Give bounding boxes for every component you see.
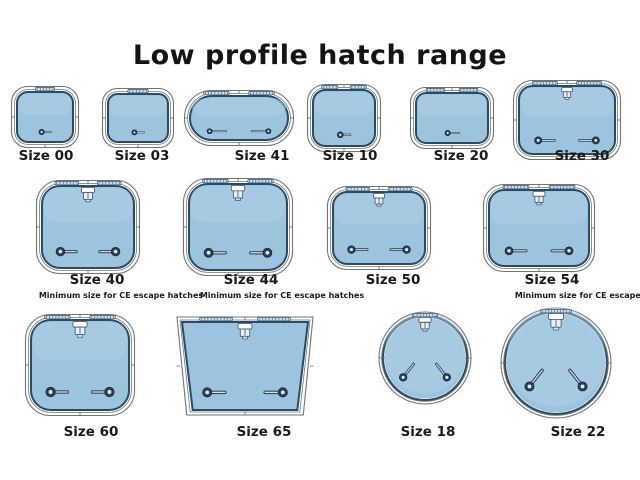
ce-escape-caption-size-44: Minimum size for CE escape hatches bbox=[138, 291, 426, 300]
hatch-label-size-20: Size 20 bbox=[416, 148, 506, 164]
ce-escape-caption-size-54: Minimum size for CE escape hatches bbox=[452, 291, 640, 300]
hatch-size-44 bbox=[180, 175, 296, 279]
hatch-label-size-30: Size 30 bbox=[525, 148, 639, 164]
hatch-size-03 bbox=[99, 85, 177, 151]
hatch-label-size-41: Size 41 bbox=[204, 148, 320, 164]
hatch-label-size-18: Size 18 bbox=[377, 424, 479, 440]
hatch-size-10 bbox=[304, 81, 384, 155]
hatch-size-65 bbox=[173, 313, 317, 419]
hatch-size-50 bbox=[324, 183, 434, 273]
hatch-size-20 bbox=[407, 84, 497, 152]
hatch-size-22 bbox=[496, 303, 616, 423]
hatch-size-41 bbox=[181, 87, 297, 149]
hatch-label-size-50: Size 50 bbox=[338, 272, 448, 288]
hatch-label-size-44: Size 44 bbox=[193, 272, 309, 288]
hatch-size-60 bbox=[22, 311, 138, 419]
page-title: Low profile hatch range bbox=[0, 40, 640, 71]
hatch-label-size-03: Size 03 bbox=[103, 148, 181, 164]
hatch-label-size-22: Size 22 bbox=[518, 424, 638, 440]
hatch-size-18 bbox=[374, 307, 476, 409]
hatch-size-00 bbox=[8, 83, 82, 151]
hatch-size-54 bbox=[480, 181, 598, 275]
hatch-label-size-10: Size 10 bbox=[310, 148, 390, 164]
hatch-label-size-54: Size 54 bbox=[493, 272, 611, 288]
hatch-label-size-40: Size 40 bbox=[42, 272, 152, 288]
hatch-range-diagram: Low profile hatch range Size 00Size 03Si… bbox=[0, 0, 640, 480]
hatch-label-size-60: Size 60 bbox=[33, 424, 149, 440]
hatch-label-size-65: Size 65 bbox=[192, 424, 336, 440]
hatch-size-40 bbox=[33, 177, 143, 277]
hatch-label-size-00: Size 00 bbox=[9, 148, 83, 164]
